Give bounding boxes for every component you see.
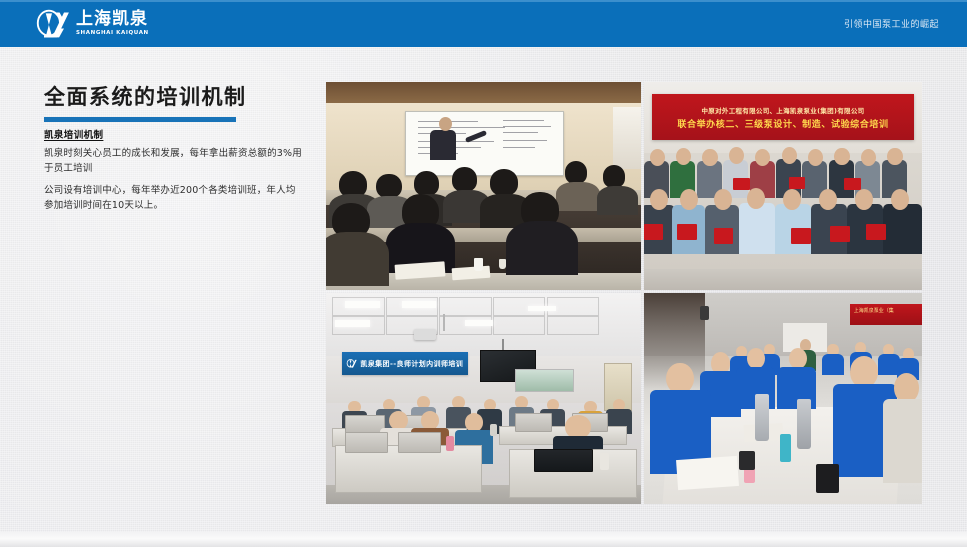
projector-mount [443,314,445,331]
whiteboard [405,111,565,175]
instructor [430,130,456,160]
wall-banner-text: 上海凯泉泵业（集 [854,307,894,314]
photo-computer-classroom: 凯泉集团--良师计划内训师培训 [326,293,641,504]
speaker-left [700,306,709,320]
event-banner: 中原对外工程有限公司、上海凯泉泵业(集团)有限公司 联合举办核二、三级泵设计、制… [652,94,913,140]
company-logo: 上海凯泉 SHANGHAI KAIQUAN [34,7,149,40]
kaiquan-logo-mark-small [346,358,357,369]
photo-workshop-discussion: 上海凯泉泵业（集 [644,293,922,504]
header-top-accent-line [0,0,967,2]
photo-group-certificate: 中原对外工程有限公司、上海凯泉泵业(集团)有限公司 联合举办核二、三级泵设计、制… [644,82,922,290]
body-paragraph-2: 公司设有培训中心，每年举办近200个各类培训班，年人均参加培训时间在10天以上。 [44,183,302,214]
logo-english-name: SHANGHAI KAIQUAN [76,31,149,37]
title-block: 全面系统的培训机制 [44,84,309,122]
body-subtitle: 凯泉培训机制 [44,127,302,141]
body-paragraph-1: 凯泉时刻关心员工的成长和发展，每年拿出薪资总额的3%用于员工培训 [44,146,302,177]
classroom-banner-text: 凯泉集团--良师计划内训师培训 [360,359,463,369]
slide-bottom-edge [0,532,967,547]
wall-banner: 上海凯泉泵业（集 [850,304,922,325]
ceiling [326,82,641,103]
front-row [644,186,922,273]
kaiquan-logo-mark [34,8,70,40]
banner-line-2: 联合举办核二、三级泵设计、制造、试验综合培训 [677,117,888,130]
logo-chinese-name: 上海凯泉 [76,11,149,28]
title-underline-bar [44,117,236,122]
body-text-block: 凯泉培训机制 凯泉时刻关心员工的成长和发展，每年拿出薪资总额的3%用于员工培训 … [44,127,302,220]
photo-lecture-hall [326,82,641,290]
projector [414,329,436,340]
slide-header: 上海凯泉 SHANGHAI KAIQUAN 引领中国泵工业的崛起 [0,0,967,47]
photo-grid: 中原对外工程有限公司、上海凯泉泵业(集团)有限公司 联合举办核二、三级泵设计、制… [326,82,922,504]
header-slogan: 引领中国泵工业的崛起 [844,0,939,47]
window [515,369,574,392]
window [613,107,641,169]
banner-line-1: 中原对外工程有限公司、上海凯泉泵业(集团)有限公司 [702,105,865,115]
classroom-banner: 凯泉集团--良师计划内训师培训 [342,352,468,375]
page-title: 全面系统的培训机制 [44,84,309,110]
presentation-slide: 上海凯泉 SHANGHAI KAIQUAN 引领中国泵工业的崛起 全面系统的培训… [0,0,967,547]
